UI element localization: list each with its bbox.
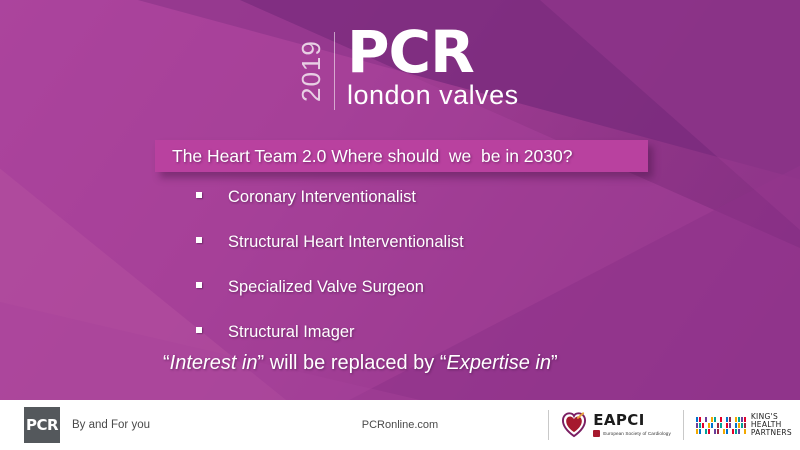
footer-divider <box>683 410 684 440</box>
presentation-slide: 2019 PCR london valves The Heart Team 2.… <box>0 0 800 450</box>
khp-line-3: PARTNERS <box>751 429 792 437</box>
page-title: The Heart Team 2.0 Where should we be in… <box>172 146 572 167</box>
list-item-label: Structural Heart Interventionalist <box>228 233 464 252</box>
slide-footer: PCR By and For you PCRonline.com EAPCI E… <box>0 400 800 450</box>
logo-divider <box>334 32 335 110</box>
quote-emphasis-1: Interest in <box>170 352 258 374</box>
logo-wordmark: PCR london valves <box>347 26 519 111</box>
footer-divider <box>548 410 549 440</box>
slide-title-banner: The Heart Team 2.0 Where should we be in… <box>155 140 648 172</box>
footer-tagline: By and For you <box>72 419 150 431</box>
heart-icon <box>561 412 587 438</box>
logo-brand: PCR <box>347 26 519 79</box>
footer-partner-logos: EAPCI European Society of Cardiology <box>536 400 792 450</box>
quote-open: “ <box>163 352 170 374</box>
quote-open-2: “ <box>440 352 447 374</box>
khp-bar-row <box>696 423 746 428</box>
list-item: Coronary Interventionalist <box>196 188 666 233</box>
bullet-list: Coronary Interventionalist Structural He… <box>196 188 666 368</box>
square-bullet-icon <box>196 237 202 243</box>
footer-branding: PCR By and For you <box>24 407 150 443</box>
logo-year: 2019 <box>298 34 324 108</box>
list-item-label: Specialized Valve Surgeon <box>228 278 424 297</box>
list-item: Specialized Valve Surgeon <box>196 278 666 323</box>
esc-mark-icon <box>593 430 600 437</box>
square-bullet-icon <box>196 192 202 198</box>
quote-close-2: ” <box>551 352 558 374</box>
khp-wordmark: KING'S HEALTH PARTNERS <box>751 413 792 437</box>
eapci-organisation: European Society of Cardiology <box>603 431 671 436</box>
quote-emphasis-2: Expertise in <box>447 352 552 374</box>
square-bullet-icon <box>196 282 202 288</box>
quote-middle: will be replaced by <box>264 352 440 374</box>
list-item-label: Coronary Interventionalist <box>228 188 416 207</box>
list-item: Structural Heart Interventionalist <box>196 233 666 278</box>
list-item-label: Structural Imager <box>228 323 355 342</box>
slide-conclusion-line: “Interest in” will be replaced by “Exper… <box>163 352 683 375</box>
khp-bar-row <box>696 429 746 434</box>
logo-subtitle: london valves <box>347 81 519 111</box>
square-bullet-icon <box>196 327 202 333</box>
pcr-london-valves-logo: 2019 PCR london valves <box>298 26 519 118</box>
eapci-logo: EAPCI European Society of Cardiology <box>561 412 671 438</box>
kings-health-partners-logo: KING'S HEALTH PARTNERS <box>696 413 792 437</box>
eapci-name: EAPCI <box>593 413 671 428</box>
khp-bars-icon <box>696 417 746 434</box>
eapci-text-block: EAPCI European Society of Cardiology <box>593 413 671 437</box>
khp-bar-row <box>696 417 746 422</box>
eapci-organisation-row: European Society of Cardiology <box>593 430 671 437</box>
pcr-logo-icon: PCR <box>24 407 60 443</box>
